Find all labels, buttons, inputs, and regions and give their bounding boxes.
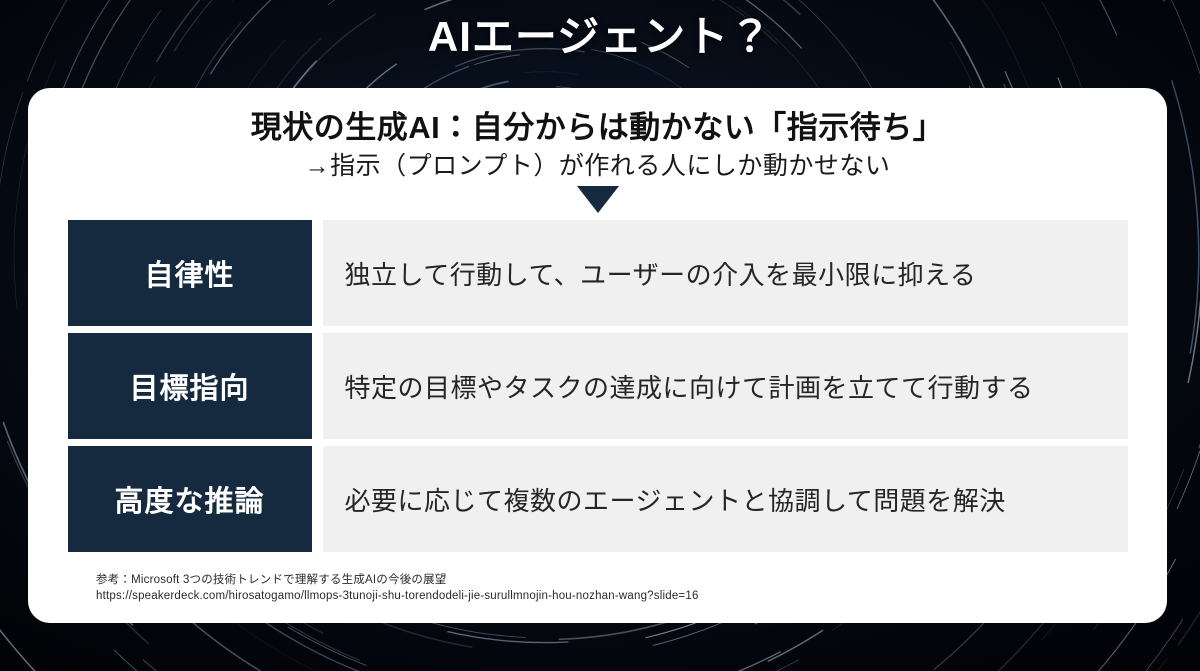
table-row-description: 必要に応じて複数のエージェントと協調して問題を解決 [323, 446, 1128, 552]
table-row-label: 高度な推論 [68, 446, 312, 552]
table-row-description: 特定の目標やタスクの達成に向けて計画を立てて行動する [323, 333, 1128, 439]
table-row: 自律性 独立して行動して、ユーザーの介入を最小限に抑える [68, 220, 1128, 326]
headline: 現状の生成AI：自分からは動かない「指示待ち」 [28, 110, 1167, 146]
table-row-label: 目標指向 [68, 333, 312, 439]
footnote-reference: 参考：Microsoft 3つの技術トレンドで理解する生成AIの今後の展望 [96, 572, 699, 589]
table-row: 目標指向 特定の目標やタスクの達成に向けて計画を立てて行動する [68, 333, 1128, 439]
table-row: 高度な推論 必要に応じて複数のエージェントと協調して問題を解決 [68, 446, 1128, 552]
footnote: 参考：Microsoft 3つの技術トレンドで理解する生成AIの今後の展望 ht… [96, 572, 699, 605]
characteristics-table: 自律性 独立して行動して、ユーザーの介入を最小限に抑える 目標指向 特定の目標や… [68, 220, 1128, 552]
table-row-description: 独立して行動して、ユーザーの介入を最小限に抑える [323, 220, 1128, 326]
slide-title: AIエージェント？ [0, 14, 1200, 60]
content-card: 現状の生成AI：自分からは動かない「指示待ち」 →指示（プロンプト）が作れる人に… [28, 88, 1167, 623]
slide-canvas: AIエージェント？ 現状の生成AI：自分からは動かない「指示待ち」 →指示（プロ… [0, 0, 1200, 671]
arrow-container [28, 186, 1167, 216]
subheadline: →指示（プロンプト）が作れる人にしか動かせない [28, 152, 1167, 181]
triangle-down-icon [577, 186, 619, 213]
footnote-url[interactable]: https://speakerdeck.com/hirosatogamo/llm… [96, 588, 699, 605]
table-row-label: 自律性 [68, 220, 312, 326]
